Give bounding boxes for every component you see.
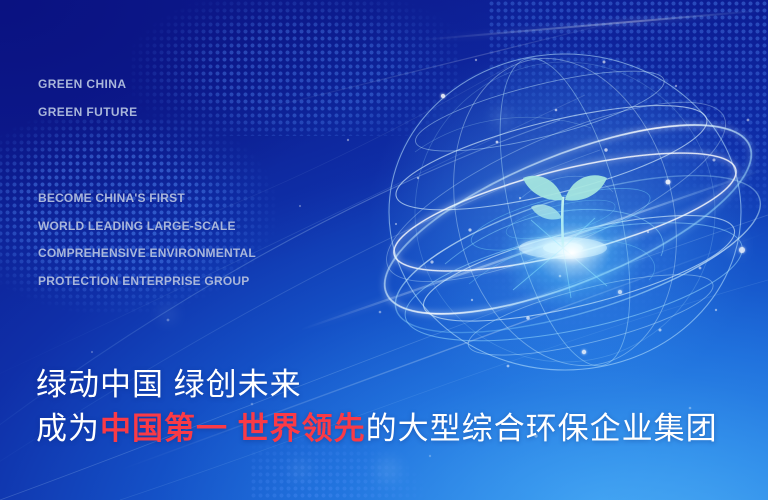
text-layer: GREEN CHINA GREEN FUTURE BECOME CHINA'S …	[0, 0, 768, 500]
tagline-line-2: GREEN FUTURE	[38, 98, 137, 126]
mission-statement-block: BECOME CHINA'S FIRST WORLD LEADING LARGE…	[38, 185, 256, 295]
headline-highlight: 中国第一 世界领先	[100, 411, 366, 446]
tagline-block: GREEN CHINA GREEN FUTURE	[38, 70, 137, 126]
headline-block: 绿动中国 绿创未来 成为中国第一 世界领先的大型综合环保企业集团	[36, 363, 718, 451]
headline-prefix: 成为	[36, 411, 100, 446]
mission-line-4: PROTECTION ENTERPRISE GROUP	[38, 268, 256, 296]
mission-line-1: BECOME CHINA'S FIRST	[38, 185, 256, 213]
tagline-line-1: GREEN CHINA	[38, 70, 137, 98]
headline-line-1: 绿动中国 绿创未来	[36, 363, 718, 407]
mission-line-3: COMPREHENSIVE ENVIRONMENTAL	[38, 240, 256, 268]
headline-suffix: 的大型综合环保企业集团	[366, 411, 718, 446]
headline-line-2: 成为中国第一 世界领先的大型综合环保企业集团	[36, 407, 718, 451]
hero-banner: GREEN CHINA GREEN FUTURE BECOME CHINA'S …	[0, 0, 768, 500]
mission-line-2: WORLD LEADING LARGE-SCALE	[38, 213, 256, 241]
